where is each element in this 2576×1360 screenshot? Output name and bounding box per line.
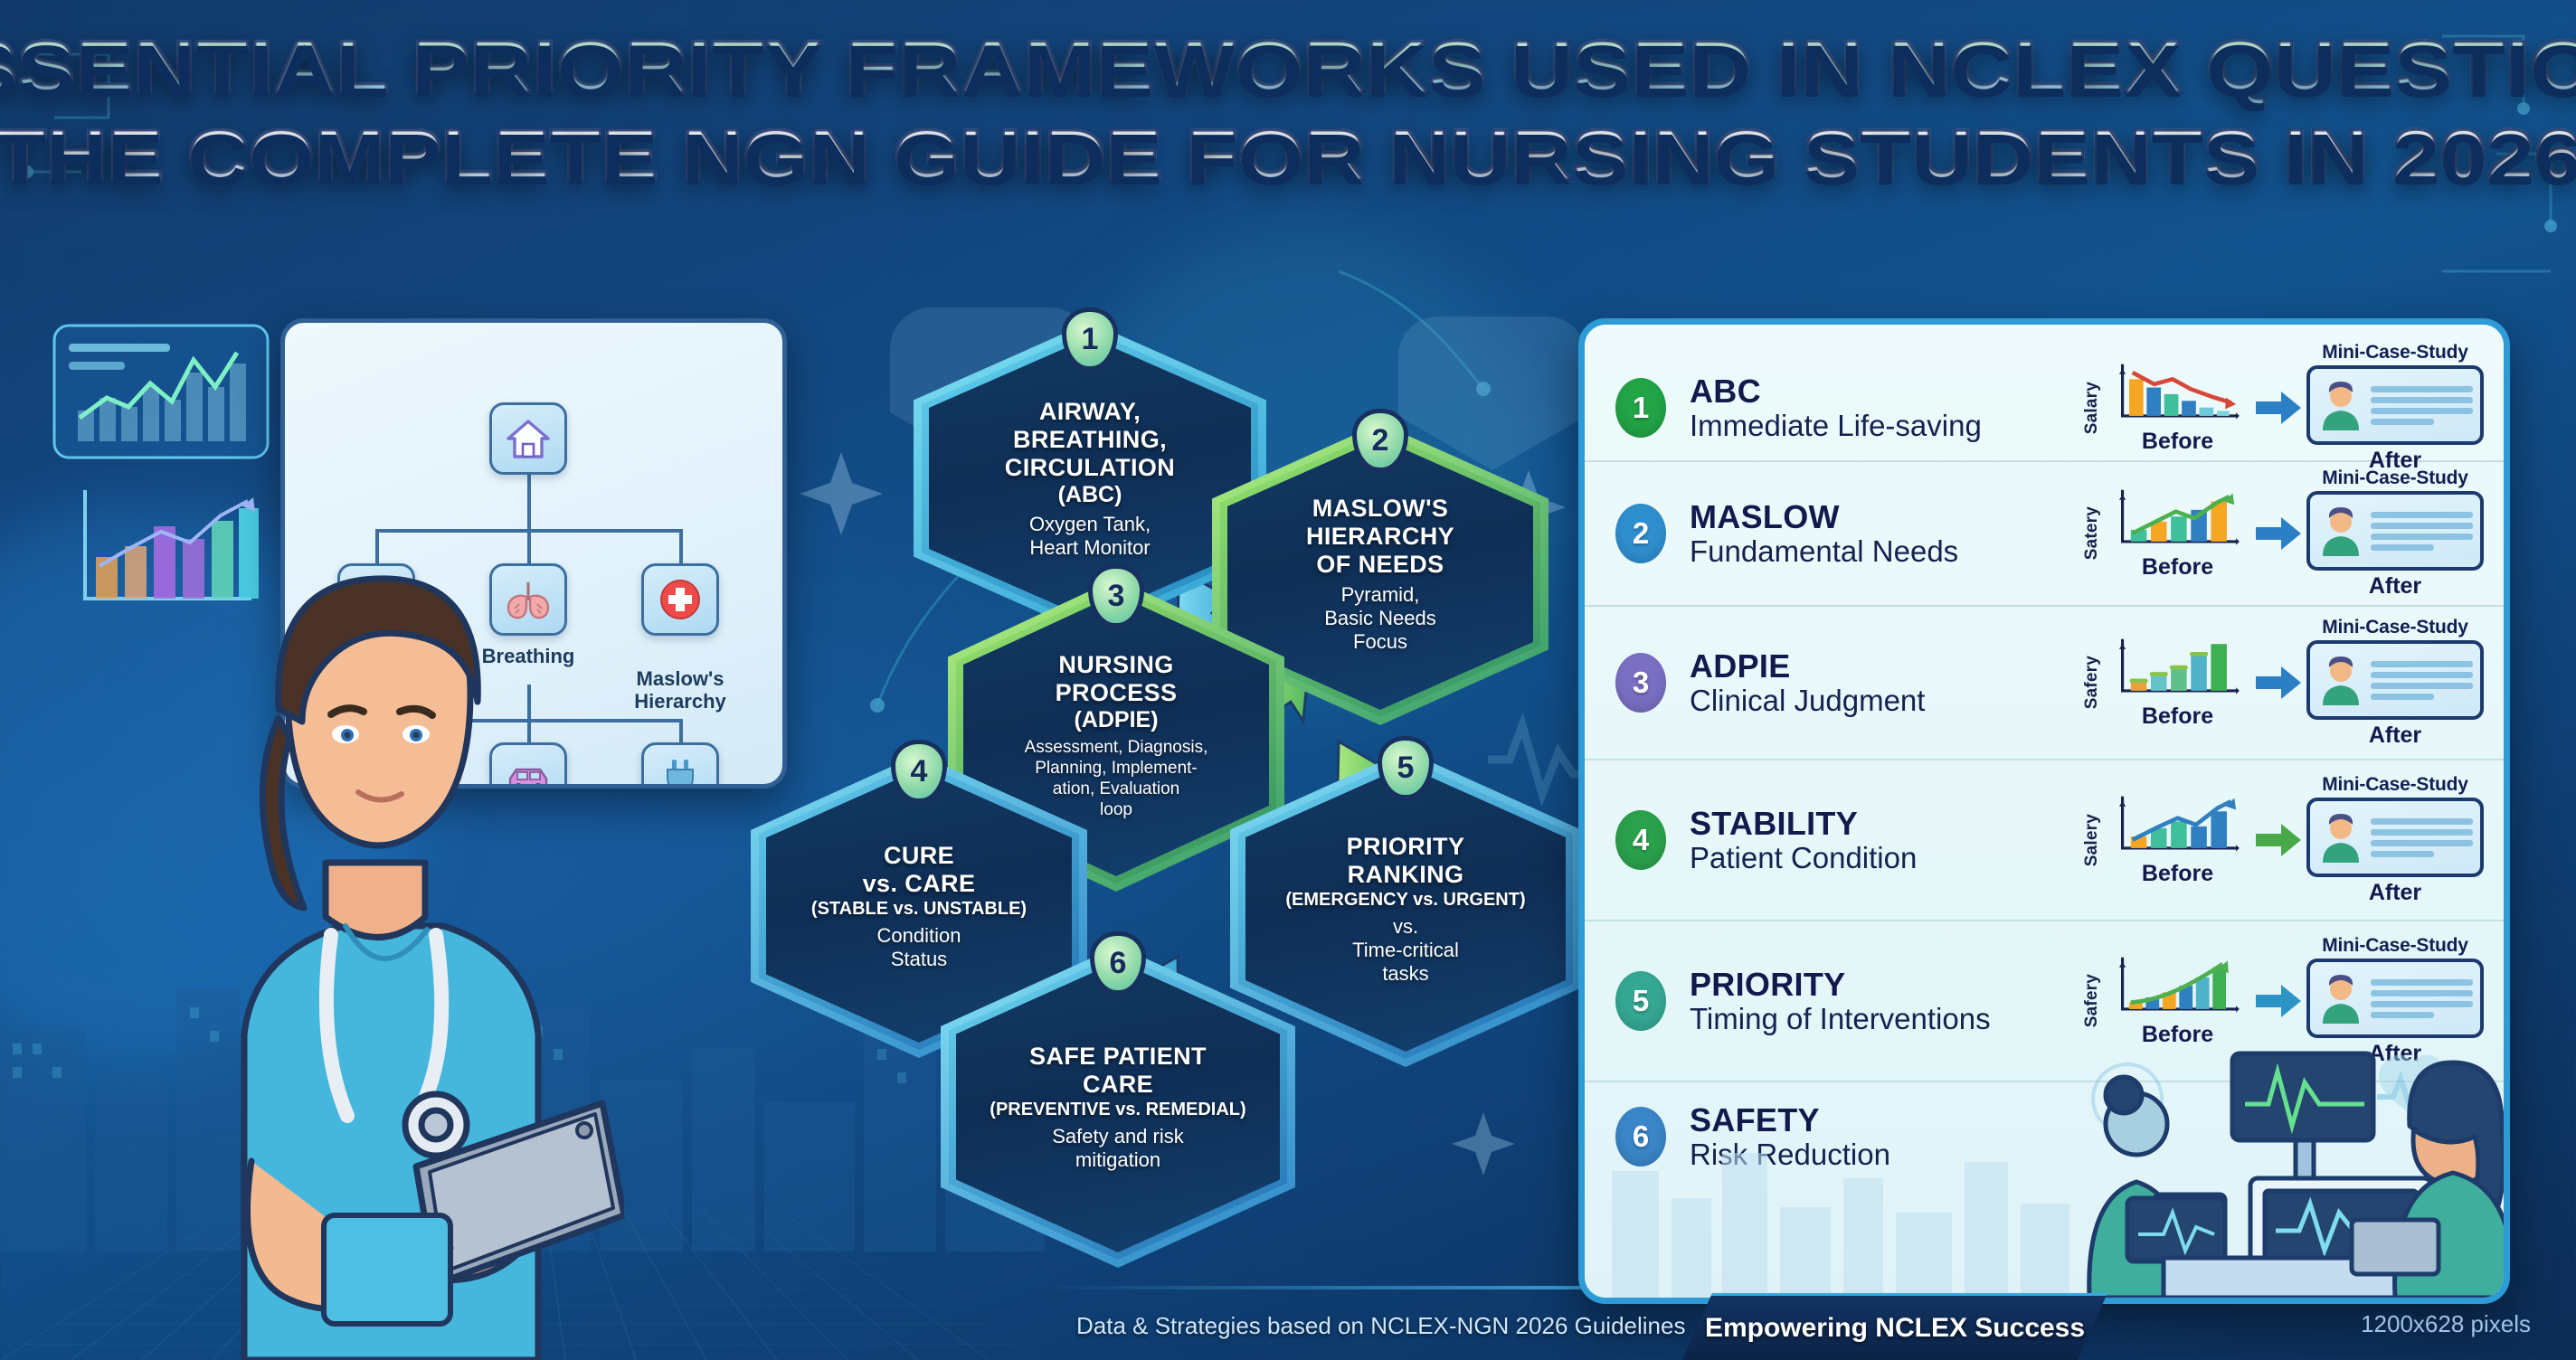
footer-tagline: Empowering NCLEX Success [1705,1313,2085,1344]
footer-dimensions: 1200x628 pixels [2361,1310,2531,1338]
hexagon-3-title: NURSING PROCESS [971,651,1261,707]
right-arrow-icon [2254,665,2303,701]
hexagon-4-desc: Condition Status [774,924,1064,971]
panel-row-3-before-label: Before [2105,704,2250,730]
panel-row-2-title: MASLOW [1690,499,2082,534]
panel-row-4-before-label: Before [2105,861,2250,887]
hexagon-2-title: MASLOW'S HIERARCHY OF NEEDS [1236,495,1525,579]
panel-row-5-arrow [2250,983,2306,1019]
panel-row-1-title: ABC [1690,373,2082,409]
nurse-avatar-icon [2317,655,2364,705]
footer-bar: Data & Strategies based on NCLEX-NGN 202… [0,1282,2576,1360]
panel-row-1-before-label: Before [2105,429,2250,455]
panel-row-2-case-card: Mini-Case-Study After [2306,467,2484,600]
hexagon-5-acronym: (EMERGENCY vs. URGENT) [1254,889,1558,911]
hexagon-5-title: PRIORITY RANKING [1254,833,1558,889]
nurse-avatar-icon [2317,505,2364,556]
title-line-2: THE COMPLETE NGN GUIDE FOR NURSING STUDE… [0,114,2576,197]
tree-connector-vertical-root [527,475,531,531]
panel-row-4-desc: Patient Condition [1690,841,2082,874]
panel-row-4-title: STABILITY [1690,806,2082,841]
panel-row-4-after-label: After [2306,880,2484,906]
hexagon-4-title: CURE vs. CARE [774,842,1064,898]
panel-row-3-title: ADPIE [1690,648,2082,684]
panel-row-4-arrow [2250,822,2306,858]
panel-row-2-text: MASLOW Fundamental Needs [1690,499,2082,568]
panel-row-1-badge: 1 [1615,378,1666,438]
hexagon-3-acronym: (ADPIE) [971,707,1261,733]
panel-row-3-arrow [2250,665,2306,701]
panel-row-3-after-label: After [2306,722,2484,749]
panel-row-4-axis-label: Salery [2082,814,2102,866]
hexagon-3-badge: 3 [1088,564,1144,628]
hexagon-1-desc: Oxygen Tank, Heart Monitor [937,513,1243,560]
panel-row-3-case-card: Mini-Case-Study After [2306,617,2484,749]
hexagon-4-badge: 4 [891,740,947,803]
hospital-scene-illustration [1585,1026,2510,1298]
power-plug-icon [660,757,700,789]
panel-row-2-badge: 2 [1615,504,1666,563]
panel-row-2-arrow [2250,515,2306,552]
hexagon-2-badge: 2 [1352,409,1408,472]
tree-connector-drop-right [679,529,683,567]
panel-row-2-chart: Satery Before [2082,486,2250,581]
right-arrow-icon [2254,515,2303,552]
infographic-title: 6 ESSENTIAL PRIORITY FRAMEWORKS USED IN … [0,25,2576,197]
medical-cross-icon [658,578,703,621]
hexagon-6-acronym: (PREVENTIVE vs. REMEDIAL) [964,1099,1272,1120]
panel-row-1-axis-label: Salary [2082,382,2102,434]
footer-tagline-tab: Empowering NCLEX Success [1682,1293,2107,1360]
panel-row-1-chart: Salary Before [2082,361,2250,455]
hexagon-5-badge: 5 [1378,736,1434,799]
title-line-1: 6 ESSENTIAL PRIORITY FRAMEWORKS USED IN … [0,25,2576,110]
right-arrow-icon [2254,822,2303,858]
panel-row-3-badge: 3 [1615,653,1666,713]
panel-row-4-badge: 4 [1615,810,1666,870]
panel-row-1[interactable]: 1 ABC Immediate Life-saving Salary [1585,355,2504,462]
mini-bar-chart-steps [2105,636,2250,701]
panel-row-3-desc: Clinical Judgment [1690,684,2082,717]
right-arrow-icon [2254,983,2303,1019]
panel-row-1-text: ABC Immediate Life-saving [1690,373,2082,442]
panel-row-3-axis-label: Safery [2082,656,2102,709]
panel-row-2-before-label: Before [2105,554,2250,581]
nurse-avatar-icon [2317,973,2364,1024]
hexagon-2-desc: Pyramid, Basic Needs Focus [1236,583,1525,654]
tree-label-maslow: Maslow's Hierarchy [612,645,748,713]
panel-row-5-badge: 5 [1615,971,1666,1031]
panel-row-3-chart: Safery Before [2082,636,2250,730]
panel-row-2[interactable]: 2 MASLOW Fundamental Needs Satery B [1585,462,2504,607]
nurse-avatar-icon [2317,812,2364,863]
power-plug-icon-node [641,742,719,789]
panel-row-5-axis-label: Safery [2082,974,2102,1027]
hexagon-1-badge: 1 [1062,307,1118,371]
panel-row-4[interactable]: 4 STABILITY Patient Condition Salery [1585,760,2504,921]
panel-row-1-desc: Immediate Life-saving [1690,409,2082,442]
hexagon-1-acronym: (ABC) [937,482,1243,508]
panel-row-5-text: PRIORITY Timing of Interventions [1690,967,2082,1035]
dashboard-chart-widget [52,324,270,459]
panel-row-2-after-label: After [2306,573,2484,600]
medical-cross-icon-node [641,563,719,636]
hexagon-4-acronym: (STABLE vs. UNSTABLE) [774,898,1064,920]
panel-row-2-desc: Fundamental Needs [1690,534,2082,568]
mini-bar-chart-down [2105,361,2250,426]
home-icon [506,418,551,459]
home-icon-node [489,402,567,475]
framework-summary-panel: 1 ABC Immediate Life-saving Salary [1578,318,2510,1304]
panel-row-3-text: ADPIE Clinical Judgment [1690,648,2082,717]
mini-bar-chart-up2 [2105,793,2250,858]
hexagon-1-title: AIRWAY, BREATHING, CIRCULATION [937,398,1243,482]
panel-row-4-text: STABILITY Patient Condition [1690,806,2082,874]
hexagon-6-desc: Safety and risk mitigation [964,1125,1272,1172]
right-arrow-icon [2254,390,2303,426]
hexagon-5-desc: vs. Time-critical tasks [1254,915,1558,986]
panel-row-1-arrow [2250,390,2306,426]
panel-row-3[interactable]: 3 ADPIE Clinical Judgment Safery [1585,607,2504,760]
hexagon-6-badge: 6 [1090,931,1146,995]
footer-note: Data & Strategies based on NCLEX-NGN 202… [1076,1312,1685,1340]
nurse-avatar-icon [2317,380,2364,430]
hexagon-6-title: SAFE PATIENT CARE [964,1043,1272,1099]
panel-row-1-case-card: Mini-Case-Study After [2306,342,2484,474]
mini-bar-chart-curve [2105,954,2250,1019]
panel-row-4-case-card: Mini-Case-Study After [2306,774,2484,906]
panel-row-5-title: PRIORITY [1690,967,2082,1002]
mini-bar-chart-up [2105,486,2250,552]
panel-row-4-chart: Salery Before [2082,793,2250,887]
nurse-illustration [118,528,624,1360]
framework-hexagon-flow: AIRWAY, BREATHING, CIRCULATION (ABC) Oxy… [914,307,1628,1293]
panel-row-2-axis-label: Satery [2082,506,2102,560]
